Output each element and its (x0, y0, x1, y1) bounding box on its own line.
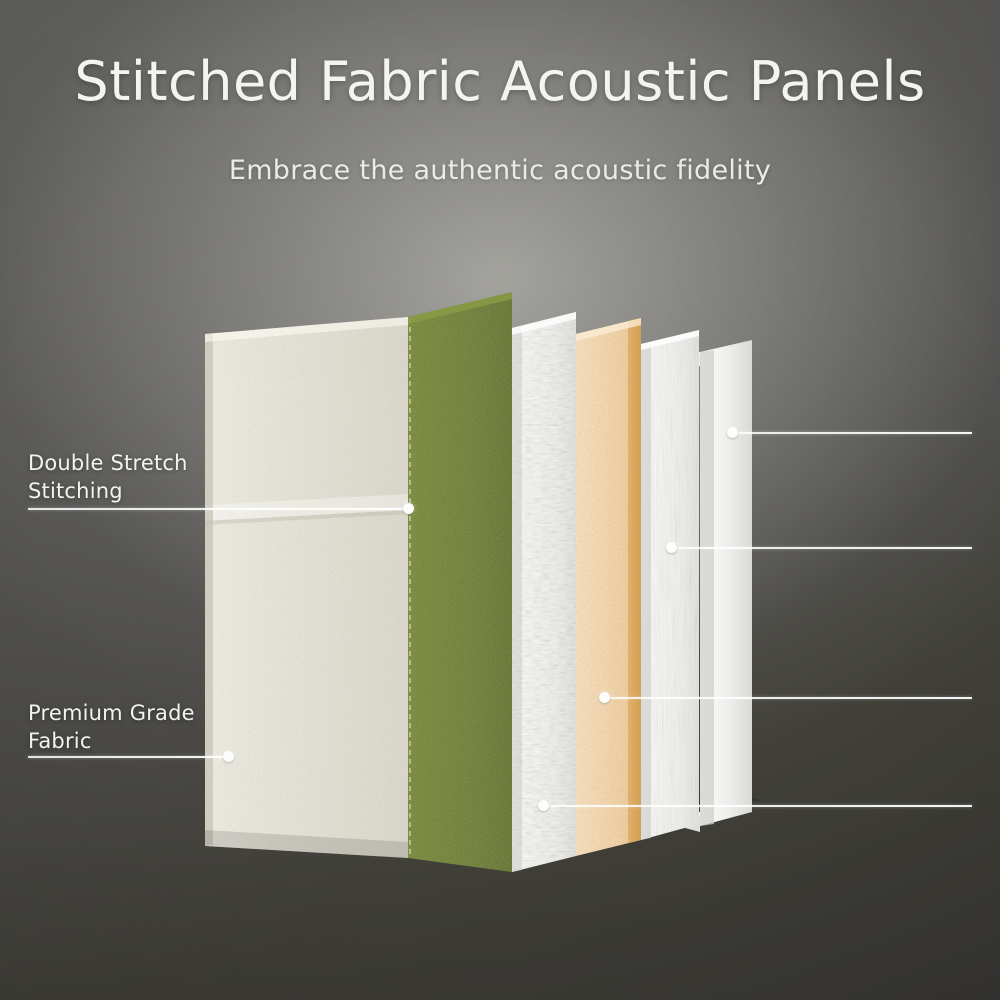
page-title: Stitched Fabric Acoustic Panels (0, 52, 1000, 111)
layer-green-stitched-fabric (402, 285, 520, 885)
leader-dot-auxiliary-insulation-felt (666, 542, 677, 553)
leader-line-premium-grade-fabric (28, 756, 228, 758)
leader-line-double-stretch-stitching (28, 508, 408, 510)
leader-line-auxiliary-insulation-felt (671, 547, 972, 549)
leader-line-high-density-plant-fiber-cotton (604, 697, 972, 699)
layer-premium-grade-fabric (198, 310, 416, 870)
product-infographic: Stitched Fabric Acoustic Panels Embrace … (0, 0, 1000, 1000)
leader-line-lightweight-aluminum-frame (732, 432, 972, 434)
layer-frequency-damping-felt (506, 305, 584, 885)
layer-plant-fiber-cotton (570, 310, 650, 870)
callout-label-premium-grade-fabric: Premium Grade Fabric (28, 700, 368, 755)
layer-auxiliary-insulation-felt (635, 320, 710, 850)
callout-label-double-stretch-stitching: Double Stretch Stitching (28, 450, 368, 505)
leader-dot-lightweight-aluminum-frame (727, 427, 738, 438)
leader-dot-frequency-damping-felt (538, 800, 549, 811)
leader-dot-double-stretch-stitching (403, 503, 414, 514)
page-subtitle: Embrace the authentic acoustic fidelity (0, 155, 1000, 186)
leader-dot-high-density-plant-fiber-cotton (599, 692, 610, 703)
leader-dot-premium-grade-fabric (223, 751, 234, 762)
heading-block: Stitched Fabric Acoustic Panels Embrace … (0, 52, 1000, 186)
leader-line-frequency-damping-felt (543, 805, 972, 807)
